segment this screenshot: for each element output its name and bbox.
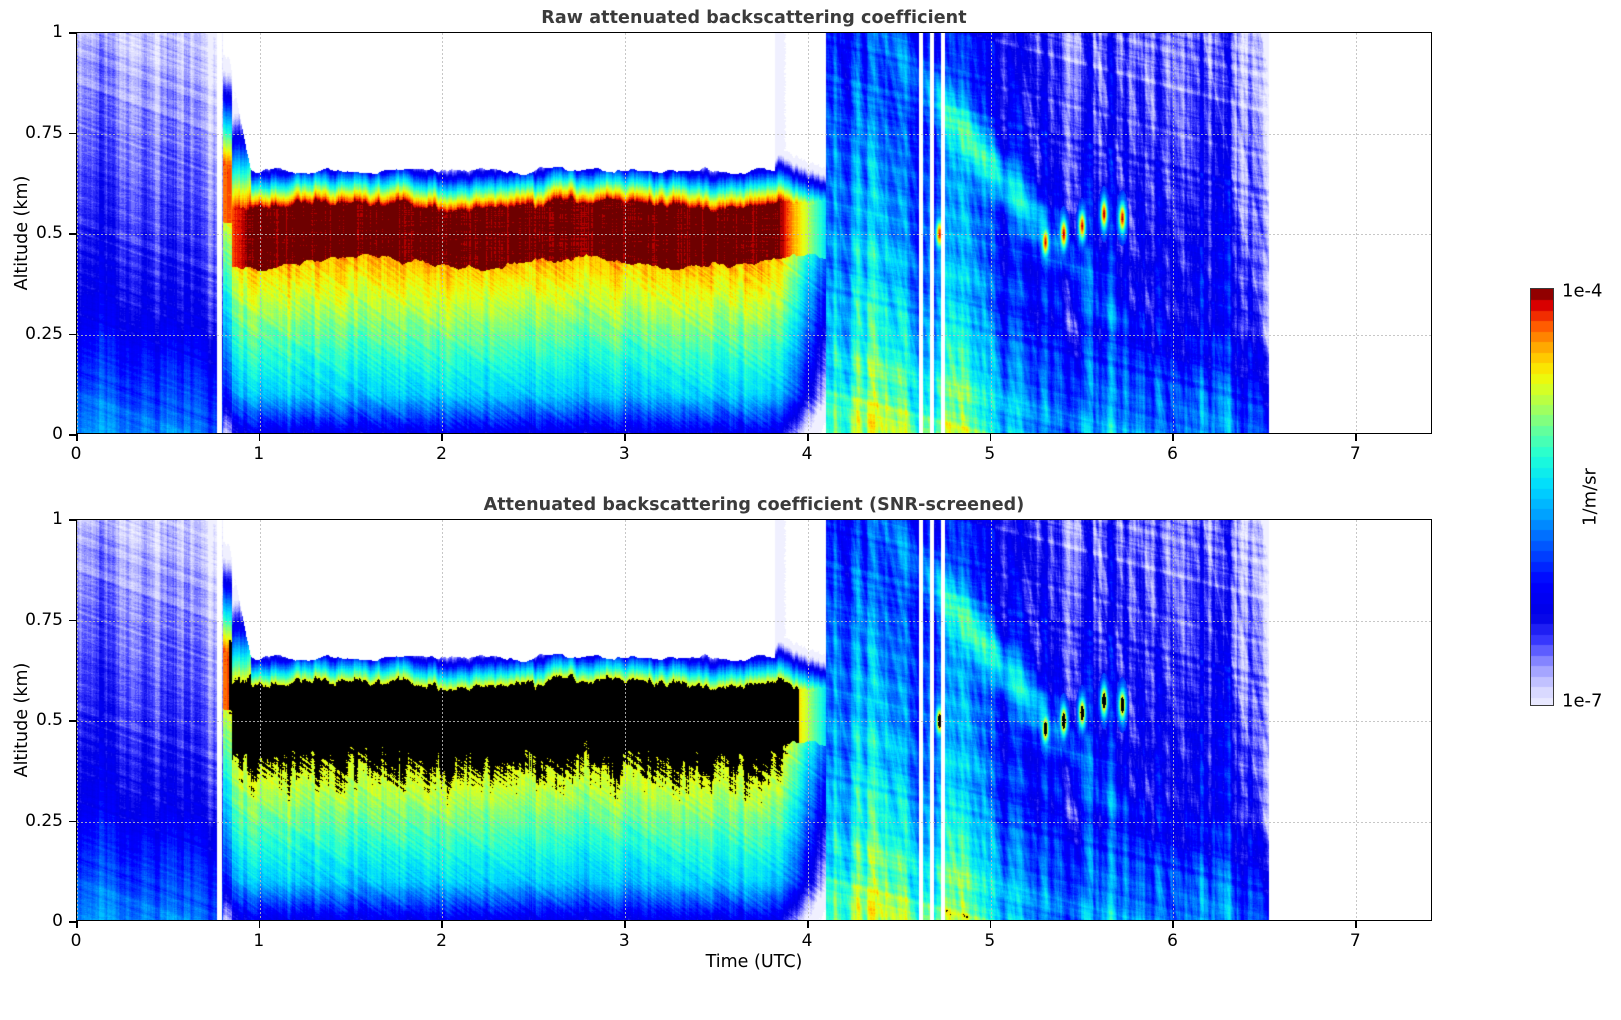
- heatmap-screened: [77, 520, 1432, 921]
- colorbar-max-label: 1e-4: [1562, 281, 1602, 302]
- x-tick-label: 1: [253, 931, 264, 951]
- x-tick: [1172, 921, 1174, 928]
- y-tick: [69, 620, 76, 622]
- panel-screened-title: Attenuated backscattering coefficient (S…: [0, 495, 1508, 515]
- x-tick: [441, 921, 443, 928]
- colorbar-gradient: [1531, 289, 1554, 706]
- colorbar[interactable]: [1530, 288, 1554, 706]
- y-tick: [69, 821, 76, 823]
- axis-label-y-screened: Altitude (km): [12, 663, 32, 778]
- y-tick: [69, 720, 76, 722]
- y-tick-label: 1: [0, 509, 63, 529]
- x-tick-label: 0: [71, 931, 82, 951]
- y-tick-label: 0: [0, 911, 63, 931]
- x-tick-label: 6: [1167, 931, 1178, 951]
- x-tick: [1355, 921, 1357, 928]
- x-tick: [259, 921, 261, 928]
- x-tick-label: 2: [436, 931, 447, 951]
- panel-screened: Attenuated backscattering coefficient (S…: [0, 0, 1621, 1020]
- x-tick: [990, 921, 992, 928]
- figure-root: Raw attenuated backscattering coefficien…: [0, 0, 1621, 1020]
- axis-label-x: Time (UTC): [706, 952, 803, 972]
- x-tick-label: 4: [802, 931, 813, 951]
- colorbar-axis-label: 1/m/sr: [1580, 468, 1601, 526]
- y-tick-label: 0.75: [0, 610, 63, 630]
- x-tick: [807, 921, 809, 928]
- x-tick-label: 5: [984, 931, 995, 951]
- y-tick-label: 0.25: [0, 811, 63, 831]
- x-tick: [76, 921, 78, 928]
- colorbar-min-label: 1e-7: [1562, 691, 1602, 712]
- x-tick: [624, 921, 626, 928]
- x-tick-label: 3: [619, 931, 630, 951]
- x-tick-label: 7: [1350, 931, 1361, 951]
- axes-screened[interactable]: [76, 519, 1432, 921]
- y-tick: [69, 921, 76, 923]
- y-tick: [69, 519, 76, 521]
